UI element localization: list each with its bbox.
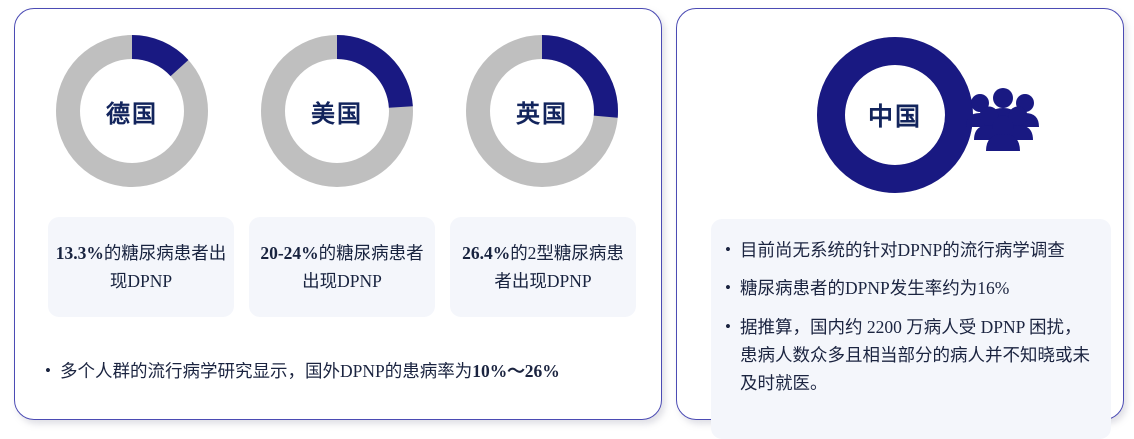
stat-text-germany: 13.3%的糖尿病患者出现DPNP	[54, 239, 228, 296]
right-note-item-1: • 目前尚无系统的针对DPNP的流行病学调查	[725, 236, 1095, 264]
left-panel-card: 德国 美国 英国 13.3%的糖尿病患者出现DPNP	[14, 8, 662, 420]
right-note-item-2: • 糖尿病患者的DPNP发生率约为16%	[725, 274, 1095, 302]
donut-label-usa: 美国	[261, 35, 413, 187]
left-note-emphasis: 10%～26%	[472, 361, 560, 381]
donut-chart-uk: 英国	[466, 35, 618, 187]
right-note-text-1: 目前尚无系统的针对DPNP的流行病学调查	[740, 236, 1095, 264]
stat-value-uk: 26.4%	[462, 243, 510, 263]
bullet-icon: •	[45, 357, 51, 384]
bullet-icon: •	[725, 313, 731, 340]
left-note-bullet-row: • 多个人群的流行病学研究显示，国外DPNP的患病率为10%～26%	[45, 357, 645, 385]
right-panel-card: 中国 • 目	[676, 8, 1124, 420]
bullet-icon: •	[725, 274, 731, 301]
right-note-item-3: • 据推算，国内约 2200 万病人受 DPNP 困扰，患病人数众多且相当部分的…	[725, 313, 1095, 398]
donut-label-uk: 英国	[466, 35, 618, 187]
donut-label-china: 中国	[817, 37, 973, 193]
stat-box-usa: 20-24%的糖尿病患者出现DPNP	[249, 217, 435, 317]
right-note-text-3: 据推算，国内约 2200 万病人受 DPNP 困扰，患病人数众多且相当部分的病人…	[740, 313, 1095, 398]
stat-text-usa: 20-24%的糖尿病患者出现DPNP	[255, 239, 429, 296]
right-notes-box: • 目前尚无系统的针对DPNP的流行病学调查 • 糖尿病患者的DPNP发生率约为…	[711, 219, 1111, 439]
donut-label-germany: 德国	[56, 35, 208, 187]
crowd-of-people-icon	[962, 85, 1044, 151]
stat-rest-germany: 的糖尿病患者出现DPNP	[104, 243, 227, 291]
stat-box-uk: 26.4%的2型糖尿病患者出现DPNP	[450, 217, 636, 317]
donut-chart-germany: 德国	[56, 35, 208, 187]
bullet-icon: •	[725, 236, 731, 263]
stat-text-uk: 26.4%的2型糖尿病患者出现DPNP	[456, 239, 630, 296]
stat-value-germany: 13.3%	[56, 243, 104, 263]
donut-chart-row: 德国 美国 英国	[15, 35, 661, 195]
stat-rest-uk: 的2型糖尿病患者出现DPNP	[494, 243, 624, 291]
stat-rest-usa: 的糖尿病患者出现DPNP	[302, 243, 424, 291]
left-note-text: 多个人群的流行病学研究显示，国外DPNP的患病率为10%～26%	[60, 357, 560, 385]
right-note-text-2: 糖尿病患者的DPNP发生率约为16%	[740, 274, 1095, 302]
stat-value-usa: 20-24%	[260, 243, 318, 263]
infographic-root: 德国 美国 英国 13.3%的糖尿病患者出现DPNP	[0, 0, 1134, 428]
left-note-lead: 多个人群的流行病学研究显示，国外DPNP的患病率为	[60, 361, 472, 381]
donut-chart-china: 中国	[817, 37, 973, 193]
stat-box-germany: 13.3%的糖尿病患者出现DPNP	[48, 217, 234, 317]
donut-chart-usa: 美国	[261, 35, 413, 187]
